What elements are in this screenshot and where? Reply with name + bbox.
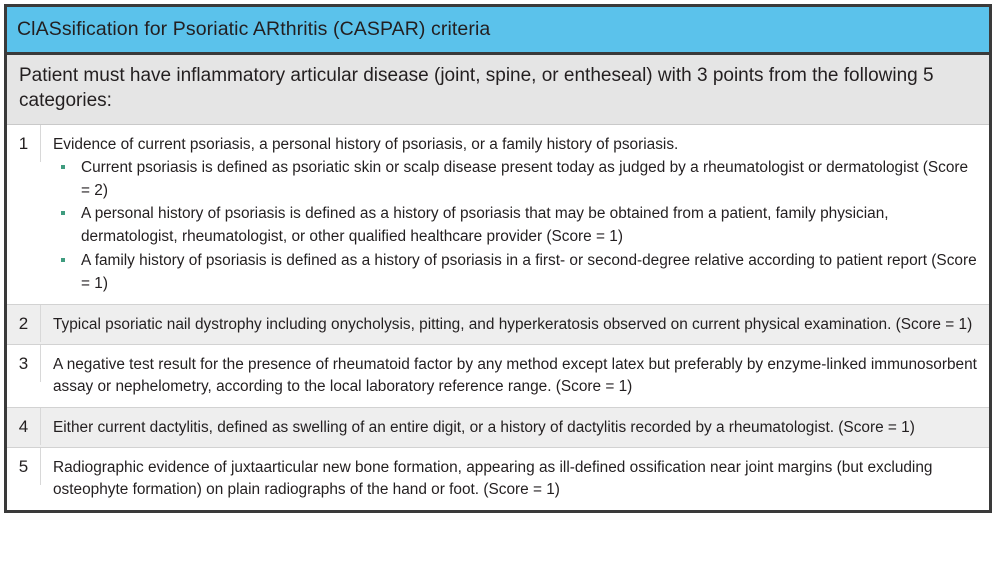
bullet-dot-icon (61, 258, 65, 262)
criterion-number: 5 (7, 448, 41, 485)
bullet-text: A personal history of psoriasis is defin… (81, 205, 889, 245)
table-row: 3A negative test result for the presence… (7, 345, 989, 408)
criterion-number: 1 (7, 125, 41, 162)
list-item: A family history of psoriasis is defined… (53, 250, 979, 296)
table-row: 1Evidence of current psoriasis, a person… (7, 125, 989, 305)
criterion-number: 4 (7, 408, 41, 445)
table-title-bar: ClASsification for Psoriatic ARthritis (… (7, 7, 989, 55)
criterion-text: Evidence of current psoriasis, a persona… (53, 134, 979, 156)
criterion-body: Typical psoriatic nail dystrophy includi… (41, 305, 989, 344)
criterion-text: Either current dactylitis, defined as sw… (53, 417, 979, 439)
bullet-dot-icon (61, 211, 65, 215)
criterion-body: Evidence of current psoriasis, a persona… (41, 125, 989, 304)
list-item: Current psoriasis is defined as psoriati… (53, 157, 979, 203)
page-title: ClASsification for Psoriatic ARthritis (… (17, 18, 490, 41)
criterion-text: A negative test result for the presence … (53, 354, 979, 399)
bullet-dot-icon (61, 165, 65, 169)
table-row: 2Typical psoriatic nail dystrophy includ… (7, 305, 989, 345)
criterion-body: Radiographic evidence of juxtaarticular … (41, 448, 989, 510)
list-item: A personal history of psoriasis is defin… (53, 203, 979, 249)
criterion-body: Either current dactylitis, defined as sw… (41, 408, 989, 447)
criterion-number: 2 (7, 305, 41, 342)
caspar-criteria-table: ClASsification for Psoriatic ARthritis (… (4, 4, 992, 513)
table-subheader: Patient must have inflammatory articular… (7, 55, 989, 125)
bullet-text: A family history of psoriasis is defined… (81, 252, 977, 292)
criterion-text: Typical psoriatic nail dystrophy includi… (53, 314, 979, 336)
criterion-bullet-list: Current psoriasis is defined as psoriati… (53, 157, 979, 296)
table-row: 4Either current dactylitis, defined as s… (7, 408, 989, 448)
criteria-list: 1Evidence of current psoriasis, a person… (7, 125, 989, 510)
criterion-body: A negative test result for the presence … (41, 345, 989, 407)
criterion-number: 3 (7, 345, 41, 382)
table-row: 5Radiographic evidence of juxtaarticular… (7, 448, 989, 510)
criterion-text: Radiographic evidence of juxtaarticular … (53, 457, 979, 502)
bullet-text: Current psoriasis is defined as psoriati… (81, 159, 968, 199)
subheader-text: Patient must have inflammatory articular… (19, 63, 975, 114)
